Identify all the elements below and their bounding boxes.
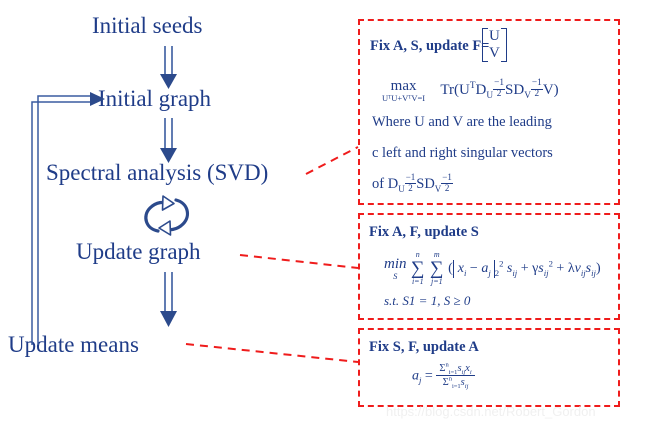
arrow-update-graph-to-update-means	[160, 272, 177, 327]
formula-box-update-A: Fix S, F, update A aj = Σni=1sijxi Σni=1…	[358, 328, 620, 407]
box1-matrix-F: U V	[482, 28, 507, 62]
trace-expression: Tr(UTDU−12SDV−12V)	[440, 82, 558, 98]
formula-box-update-S: Fix A, F, update S min S n ∑ i=1 m ∑ j=1…	[358, 213, 620, 320]
box1-note-line1: Where U and V are the leading	[372, 114, 552, 131]
flow-node-initial-graph: Initial graph	[98, 87, 211, 110]
box1-title: Fix A, S, update F=	[370, 38, 489, 55]
exponent-neg-half-4: −12	[441, 173, 453, 192]
box1-objective: max UᵀU+VᵀV=I Tr(UTDU−12SDV−12V)	[382, 79, 559, 103]
flow-node-initial-seeds: Initial seeds	[92, 14, 203, 37]
lhs-sub-j: j	[419, 375, 421, 385]
exponent-neg-half-3: −12	[405, 173, 417, 192]
norm-expression: xi − aj	[453, 261, 495, 277]
min-operator: min S	[384, 257, 407, 281]
box1-note-line3: of DU−12SDV−12	[372, 175, 453, 194]
matrix-bracket: U V	[482, 28, 507, 62]
max-label: max	[382, 79, 425, 94]
max-condition: UᵀU+VᵀV=I	[382, 94, 425, 103]
matrix-entry-U: U	[489, 28, 500, 44]
exponent-neg-half-2: −12	[531, 79, 543, 99]
flow-node-update-means: Update means	[8, 333, 139, 356]
box2-constraint: s.t. S1 = 1, S ≥ 0	[384, 293, 470, 309]
box1-note-line2: c left and right singular vectors	[372, 145, 553, 162]
max-operator: max UᵀU+VᵀV=I	[382, 79, 425, 103]
lhs-a: a	[412, 368, 419, 383]
arrow-initial-graph-to-spectral	[160, 118, 177, 163]
summation-i: n ∑ i=1	[411, 251, 425, 286]
diagram-canvas: Initial seeds Initial graph Spectral ana…	[0, 0, 657, 429]
note-prefix: of D	[372, 176, 398, 192]
summation-j: m ∑ j=1	[430, 251, 444, 286]
flow-node-update-graph: Update graph	[76, 240, 201, 263]
dashed-connector-update-means-to-box3	[186, 344, 358, 362]
watermark-text: https://blog.csdn.net/Robert_Gordon	[386, 404, 596, 419]
fraction-denominator: Σni=1sij	[436, 376, 474, 389]
box2-objective: min S n ∑ i=1 m ∑ j=1 (xi − aj22 sij + γ…	[384, 251, 601, 286]
dashed-connector-spectral-to-box1	[306, 147, 358, 174]
exponent-neg-half-1: −12	[493, 79, 505, 99]
matrix-entry-V: V	[489, 45, 500, 61]
fraction-numerator: Σni=1sijxi	[436, 363, 474, 376]
box3-formula: aj = Σni=1sijxi Σni=1sij	[412, 363, 475, 389]
box3-title: Fix S, F, update A	[369, 339, 479, 356]
arrow-feedback-loop	[32, 92, 105, 345]
arrow-seeds-to-initial-graph	[160, 46, 177, 89]
min-label: min	[384, 257, 407, 272]
cycle-refresh-icon	[146, 196, 188, 235]
flow-node-spectral-analysis: Spectral analysis (SVD)	[46, 161, 268, 184]
note-mid: SD	[416, 176, 435, 192]
equals-sign: =	[425, 368, 433, 383]
dashed-connector-update-graph-to-box2	[240, 255, 358, 268]
formula-box-update-F: Fix A, S, update F= U V max UᵀU+VᵀV=I Tr…	[358, 19, 620, 205]
fraction: Σni=1sijxi Σni=1sij	[436, 363, 474, 389]
box2-title: Fix A, F, update S	[369, 224, 479, 241]
min-subscript: S	[384, 272, 407, 281]
objective-terms: (xi − aj22 sij + γsij2 + λvijsij)	[448, 261, 601, 276]
